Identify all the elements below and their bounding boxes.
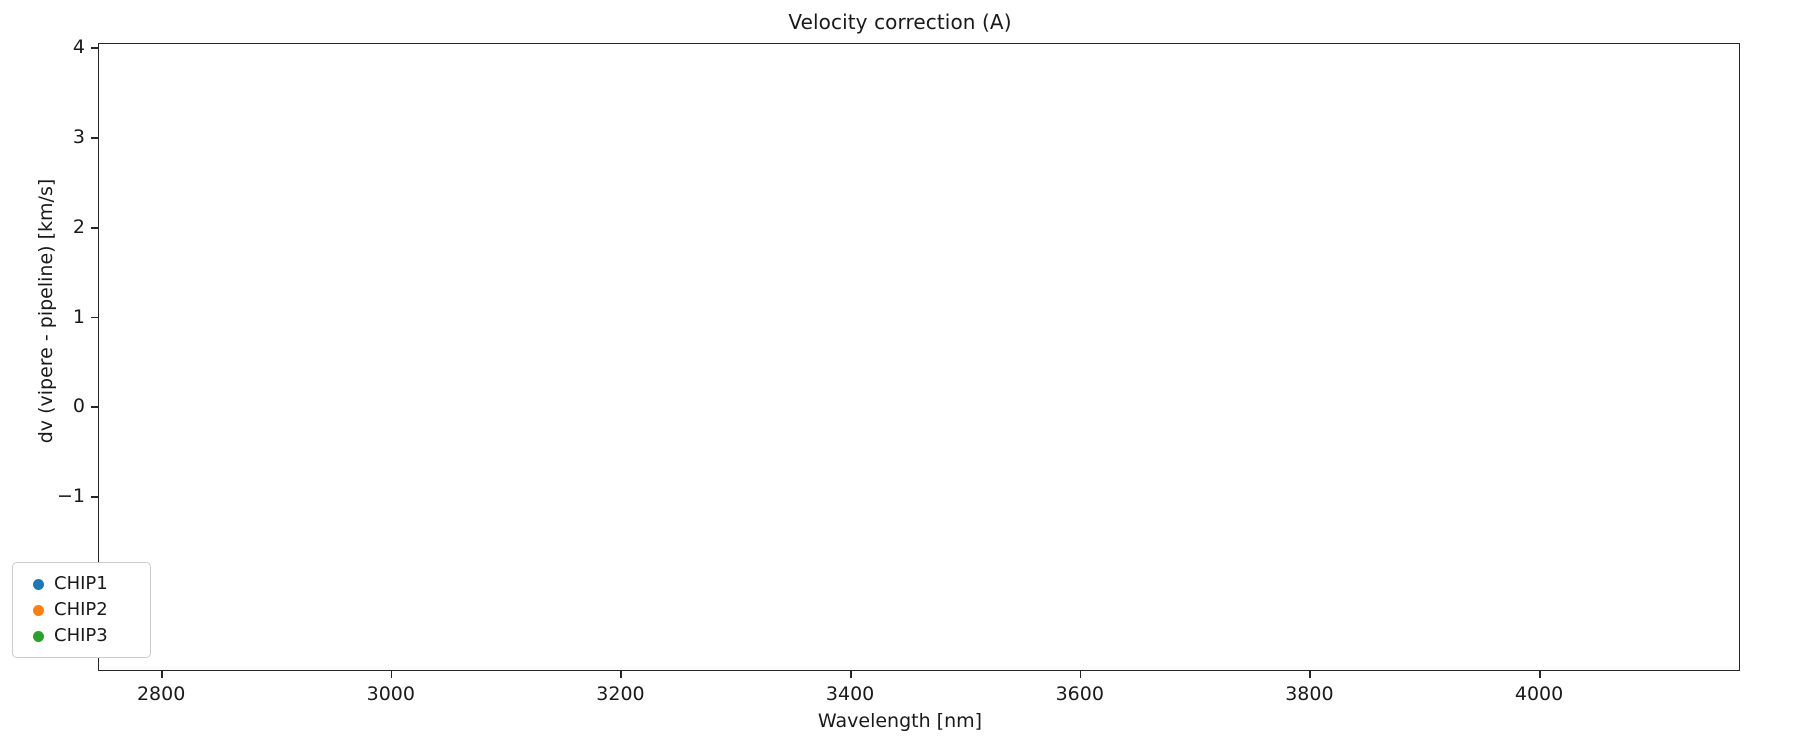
legend-marker-chip2 xyxy=(33,605,44,616)
legend-item-chip3[interactable]: CHIP3 xyxy=(23,623,138,649)
legend-label-chip1: CHIP1 xyxy=(54,575,138,593)
legend-marker-chip1 xyxy=(33,579,44,590)
y-axis-label: dv (vipere - pipeline) [km/s] xyxy=(35,51,57,571)
x-tick-label: 2800 xyxy=(137,683,185,705)
legend-marker-chip3 xyxy=(33,631,44,642)
x-tick-mark xyxy=(620,671,622,678)
x-tick-label: 3600 xyxy=(1056,683,1104,705)
legend-label-chip3: CHIP3 xyxy=(54,627,138,645)
y-tick-mark xyxy=(91,47,98,49)
x-tick-label: 4000 xyxy=(1515,683,1563,705)
y-tick-label: 0 xyxy=(73,395,85,417)
y-tick-mark xyxy=(91,406,98,408)
y-tick-mark xyxy=(91,227,98,229)
x-tick-label: 3000 xyxy=(367,683,415,705)
y-tick-label: 3 xyxy=(73,126,85,148)
y-tick-mark xyxy=(91,137,98,139)
plot-axes: 43210−1−22800300032003400360038004000 xyxy=(98,43,1740,671)
y-tick-mark xyxy=(91,317,98,319)
x-tick-mark xyxy=(391,671,393,678)
y-tick-label: 1 xyxy=(73,306,85,328)
x-tick-mark xyxy=(1309,671,1311,678)
x-tick-label: 3200 xyxy=(596,683,644,705)
legend[interactable]: CHIP1 CHIP2 CHIP3 xyxy=(12,562,151,658)
x-tick-mark xyxy=(161,671,163,678)
legend-label-chip2: CHIP2 xyxy=(54,601,138,619)
x-tick-mark xyxy=(850,671,852,678)
page-title: Velocity correction (A) xyxy=(0,10,1800,34)
y-tick-mark xyxy=(91,496,98,498)
x-axis-label: Wavelength [nm] xyxy=(0,710,1800,732)
y-tick-label: 2 xyxy=(73,216,85,238)
y-tick-label: 4 xyxy=(73,36,85,58)
velocity-correction-figure: Velocity correction (A) dv (vipere - pip… xyxy=(0,0,1800,750)
x-tick-mark xyxy=(1539,671,1541,678)
x-tick-label: 3400 xyxy=(826,683,874,705)
legend-item-chip1[interactable]: CHIP1 xyxy=(23,571,138,597)
legend-item-chip2[interactable]: CHIP2 xyxy=(23,597,138,623)
x-tick-label: 3800 xyxy=(1285,683,1333,705)
x-tick-mark xyxy=(1080,671,1082,678)
axes-frame xyxy=(98,43,1740,671)
y-tick-label: −1 xyxy=(57,485,85,507)
